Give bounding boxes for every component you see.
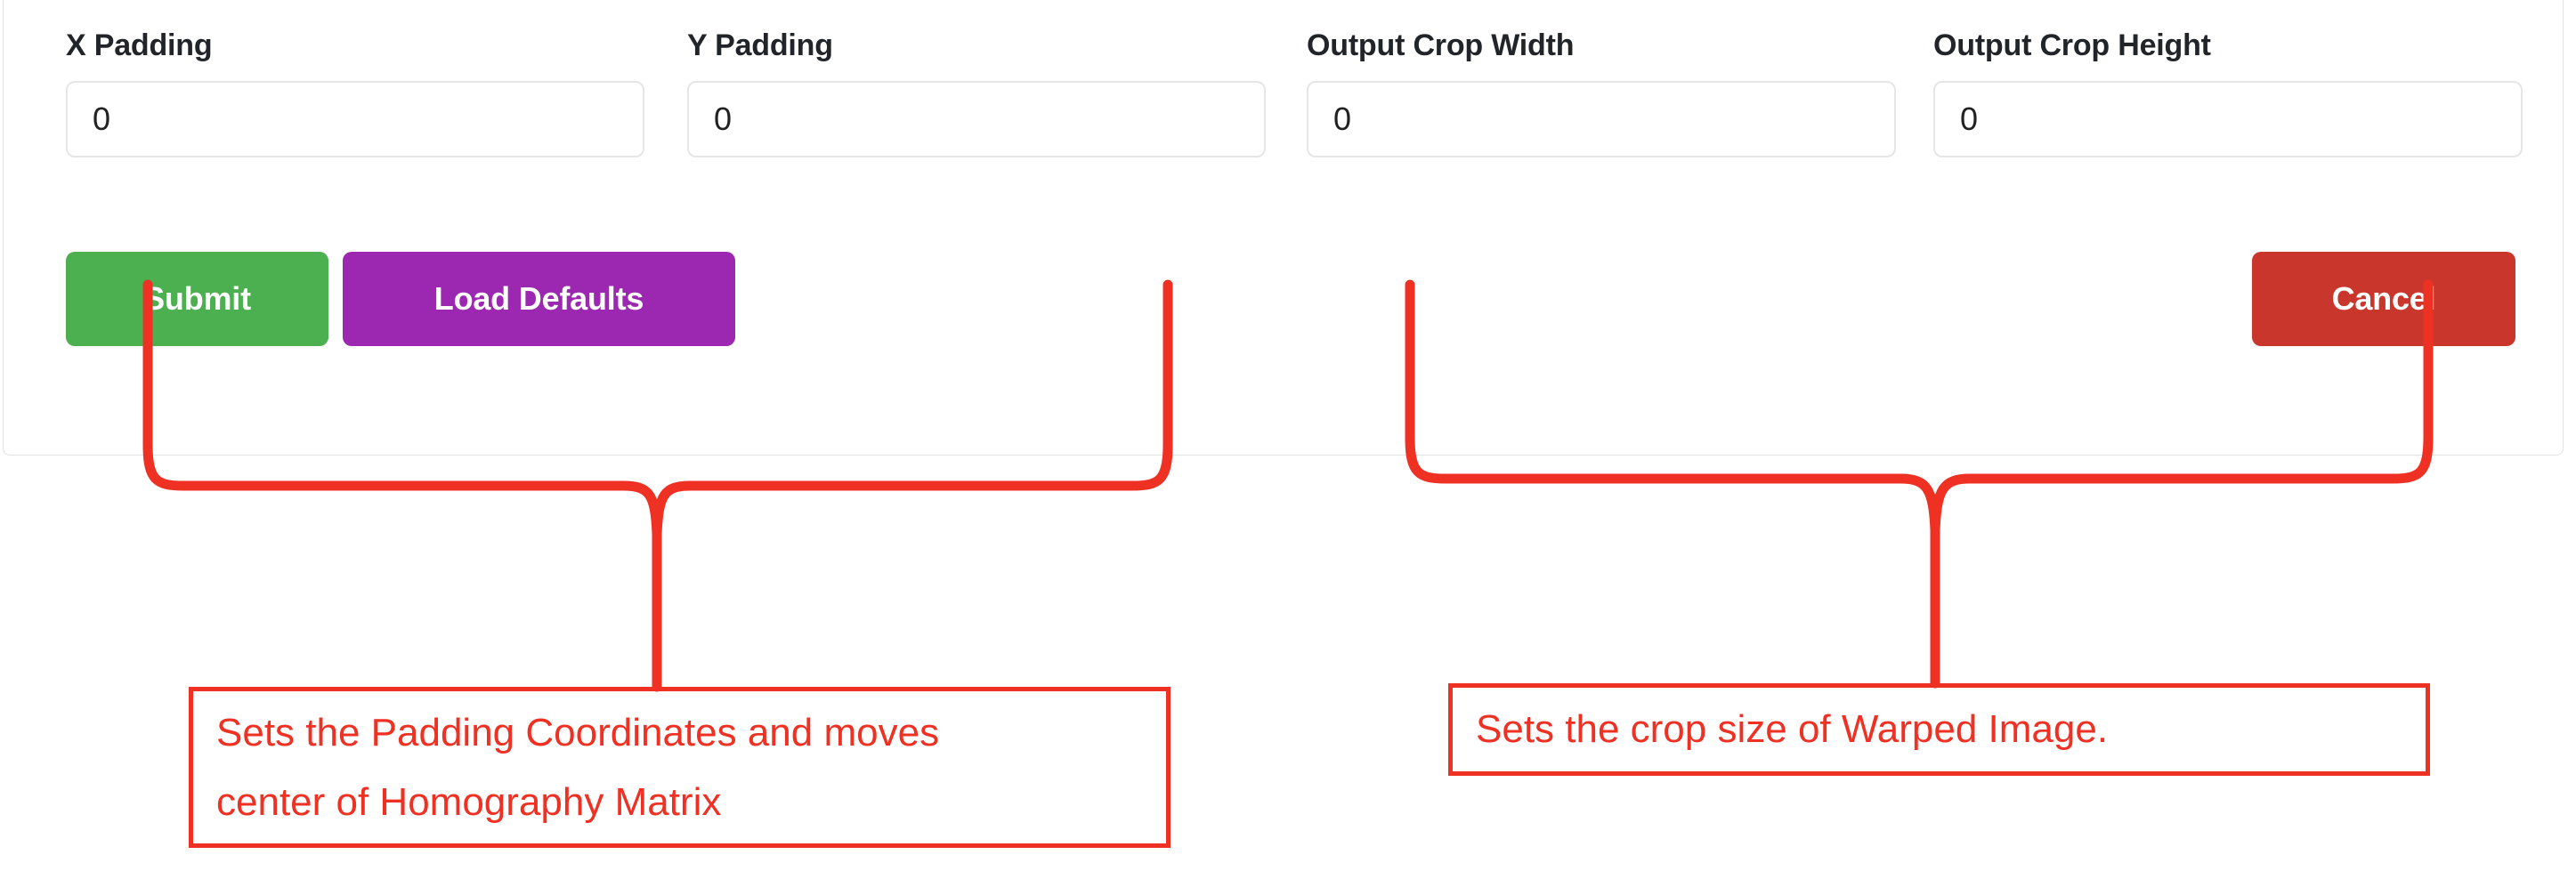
input-output-crop-height[interactable]: 0 [1933, 81, 2523, 157]
input-x-padding[interactable]: 0 [66, 81, 644, 157]
annotation-box-padding: Sets the Padding Coordinates and moves c… [189, 687, 1171, 848]
field-y-padding: Y Padding 0 [687, 28, 1266, 157]
annotation-box-crop: Sets the crop size of Warped Image. [1448, 683, 2430, 776]
label-x-padding: X Padding [66, 28, 644, 63]
annotation-line: Sets the Padding Coordinates and moves [216, 698, 1143, 768]
fields-row: X Padding 0 Y Padding 0 Output Crop Widt… [4, 28, 2563, 206]
input-y-padding[interactable]: 0 [687, 81, 1266, 157]
input-output-crop-width[interactable]: 0 [1307, 81, 1896, 157]
label-y-padding: Y Padding [687, 28, 1266, 63]
cancel-button[interactable]: Cancel [2252, 252, 2515, 346]
annotation-line: center of Homography Matrix [216, 768, 1143, 837]
load-defaults-button[interactable]: Load Defaults [343, 252, 735, 346]
submit-button[interactable]: Submit [66, 252, 328, 346]
field-output-crop-width: Output Crop Width 0 [1307, 28, 1896, 157]
annotation-line: Sets the crop size of Warped Image. [1476, 695, 2402, 764]
field-output-crop-height: Output Crop Height 0 [1933, 28, 2523, 157]
field-x-padding: X Padding 0 [66, 28, 644, 157]
settings-form-card: X Padding 0 Y Padding 0 Output Crop Widt… [3, 0, 2564, 456]
label-output-crop-width: Output Crop Width [1307, 28, 1896, 63]
label-output-crop-height: Output Crop Height [1933, 28, 2523, 63]
